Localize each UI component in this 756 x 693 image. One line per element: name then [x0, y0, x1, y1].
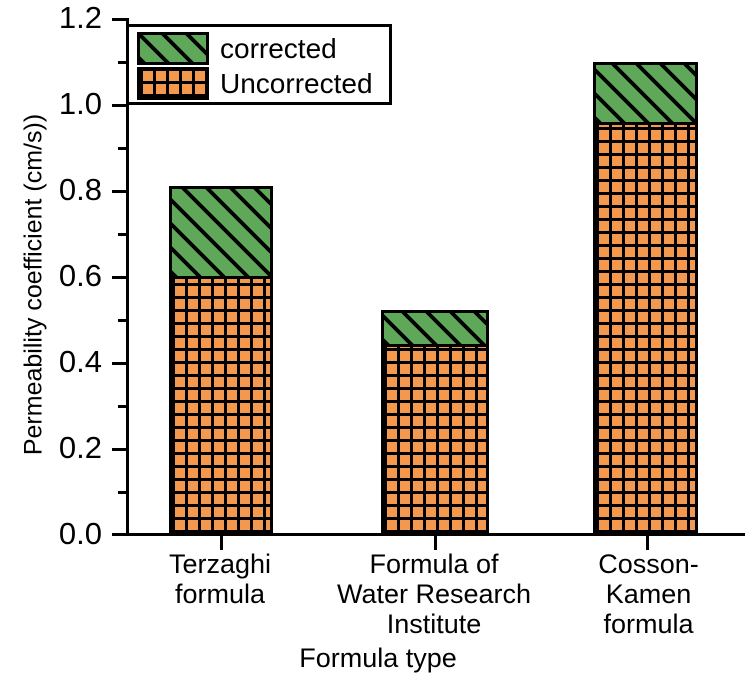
- legend-label-uncorrected: Uncorrected: [220, 70, 373, 98]
- bar-terzaghi-corrected[interactable]: [169, 186, 273, 279]
- legend-label-corrected: corrected: [220, 35, 337, 63]
- green-diagonal-hatch-swatch-icon: [137, 32, 209, 65]
- orange-cross-hatch-swatch-icon: [137, 67, 209, 100]
- bar-terzaghi-uncorrected[interactable]: [169, 276, 273, 536]
- x-category-label-terzaghi: Terzaghi formula: [110, 549, 330, 609]
- bar-cosson-kamen-uncorrected[interactable]: [593, 122, 698, 536]
- bar-water-research-institute-corrected[interactable]: [381, 310, 489, 347]
- chart-figure: Permeability coefficient (cm/s)) 1.2 1.0…: [0, 0, 756, 693]
- y-tick-minor-0-9: [118, 147, 127, 150]
- legend-item-uncorrected[interactable]: Uncorrected: [137, 67, 373, 100]
- bar-water-research-institute-uncorrected[interactable]: [381, 344, 489, 536]
- x-tick-water-research-institute: [434, 536, 437, 550]
- y-tick-major-1-0: [112, 104, 127, 107]
- y-tick-label-0-2: 0.2: [24, 432, 102, 463]
- y-tick-label-1-0: 1.0: [24, 88, 102, 119]
- x-tick-terzaghi: [220, 536, 223, 550]
- x-category-label-cosson-kamen: Cosson- Kamen formula: [566, 549, 731, 640]
- x-axis-title: Formula type: [0, 645, 756, 672]
- chart-legend: corrected Uncorrected: [126, 24, 392, 105]
- y-tick-major-0-2: [112, 448, 127, 451]
- y-tick-major-0-6: [112, 276, 127, 279]
- y-tick-minor-0-1: [118, 491, 127, 494]
- y-tick-major-1-2: [112, 18, 127, 21]
- y-tick-label-0-8: 0.8: [24, 174, 102, 205]
- y-tick-minor-0-3: [118, 405, 127, 408]
- legend-item-corrected[interactable]: corrected: [137, 32, 337, 65]
- y-tick-major-0-8: [112, 190, 127, 193]
- y-tick-major-0-0: [112, 533, 127, 536]
- y-tick-minor-0-7: [118, 233, 127, 236]
- y-tick-label-group: 1.2 1.0 0.8 0.6 0.4 0.2 0.0: [24, 0, 102, 693]
- bar-cosson-kamen-corrected[interactable]: [593, 62, 698, 125]
- y-tick-label-0-4: 0.4: [24, 346, 102, 377]
- y-tick-major-0-4: [112, 362, 127, 365]
- x-category-label-water-research-institute: Formula of Water Research Institute: [314, 549, 554, 640]
- y-tick-label-0-6: 0.6: [24, 260, 102, 291]
- x-tick-cosson-kamen: [646, 536, 649, 550]
- y-tick-label-1-2: 1.2: [24, 2, 102, 33]
- y-tick-label-0-0: 0.0: [24, 518, 102, 549]
- y-tick-minor-0-5: [118, 319, 127, 322]
